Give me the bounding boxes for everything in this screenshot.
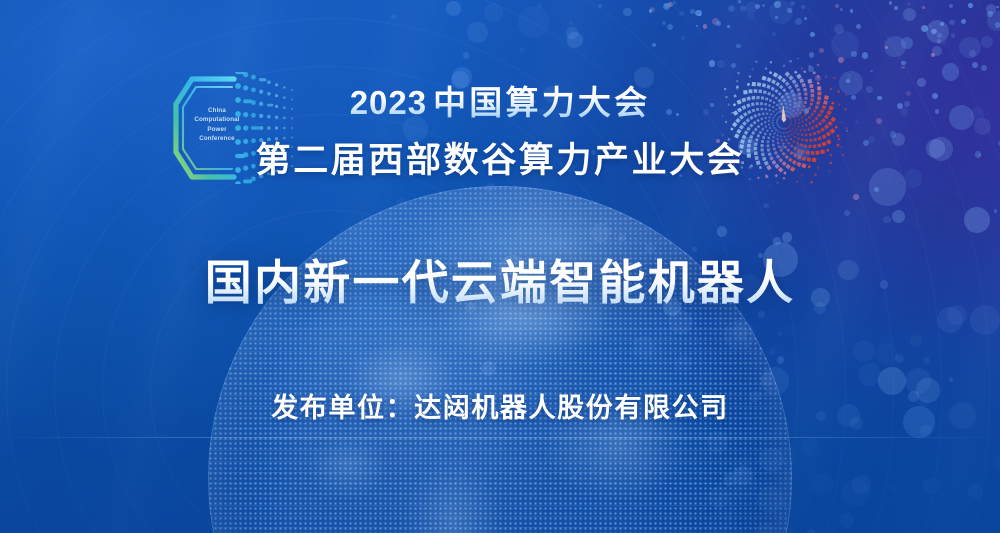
conference-poster: China Computational Power Conference 202… bbox=[0, 0, 1000, 533]
globe-horizon-line bbox=[0, 437, 1000, 438]
event-year: 2023 bbox=[350, 84, 427, 121]
event-title-text: 中国算力大会 bbox=[433, 84, 650, 121]
event-title-line-1: 2023中国算力大会 bbox=[0, 76, 1000, 124]
organizer-line: 发布单位：达闼机器人股份有限公司 bbox=[0, 386, 1000, 425]
headline: 国内新一代云端智能机器人 bbox=[0, 244, 1000, 313]
event-title-line-2: 第二届西部数谷算力产业大会 bbox=[0, 132, 1000, 183]
